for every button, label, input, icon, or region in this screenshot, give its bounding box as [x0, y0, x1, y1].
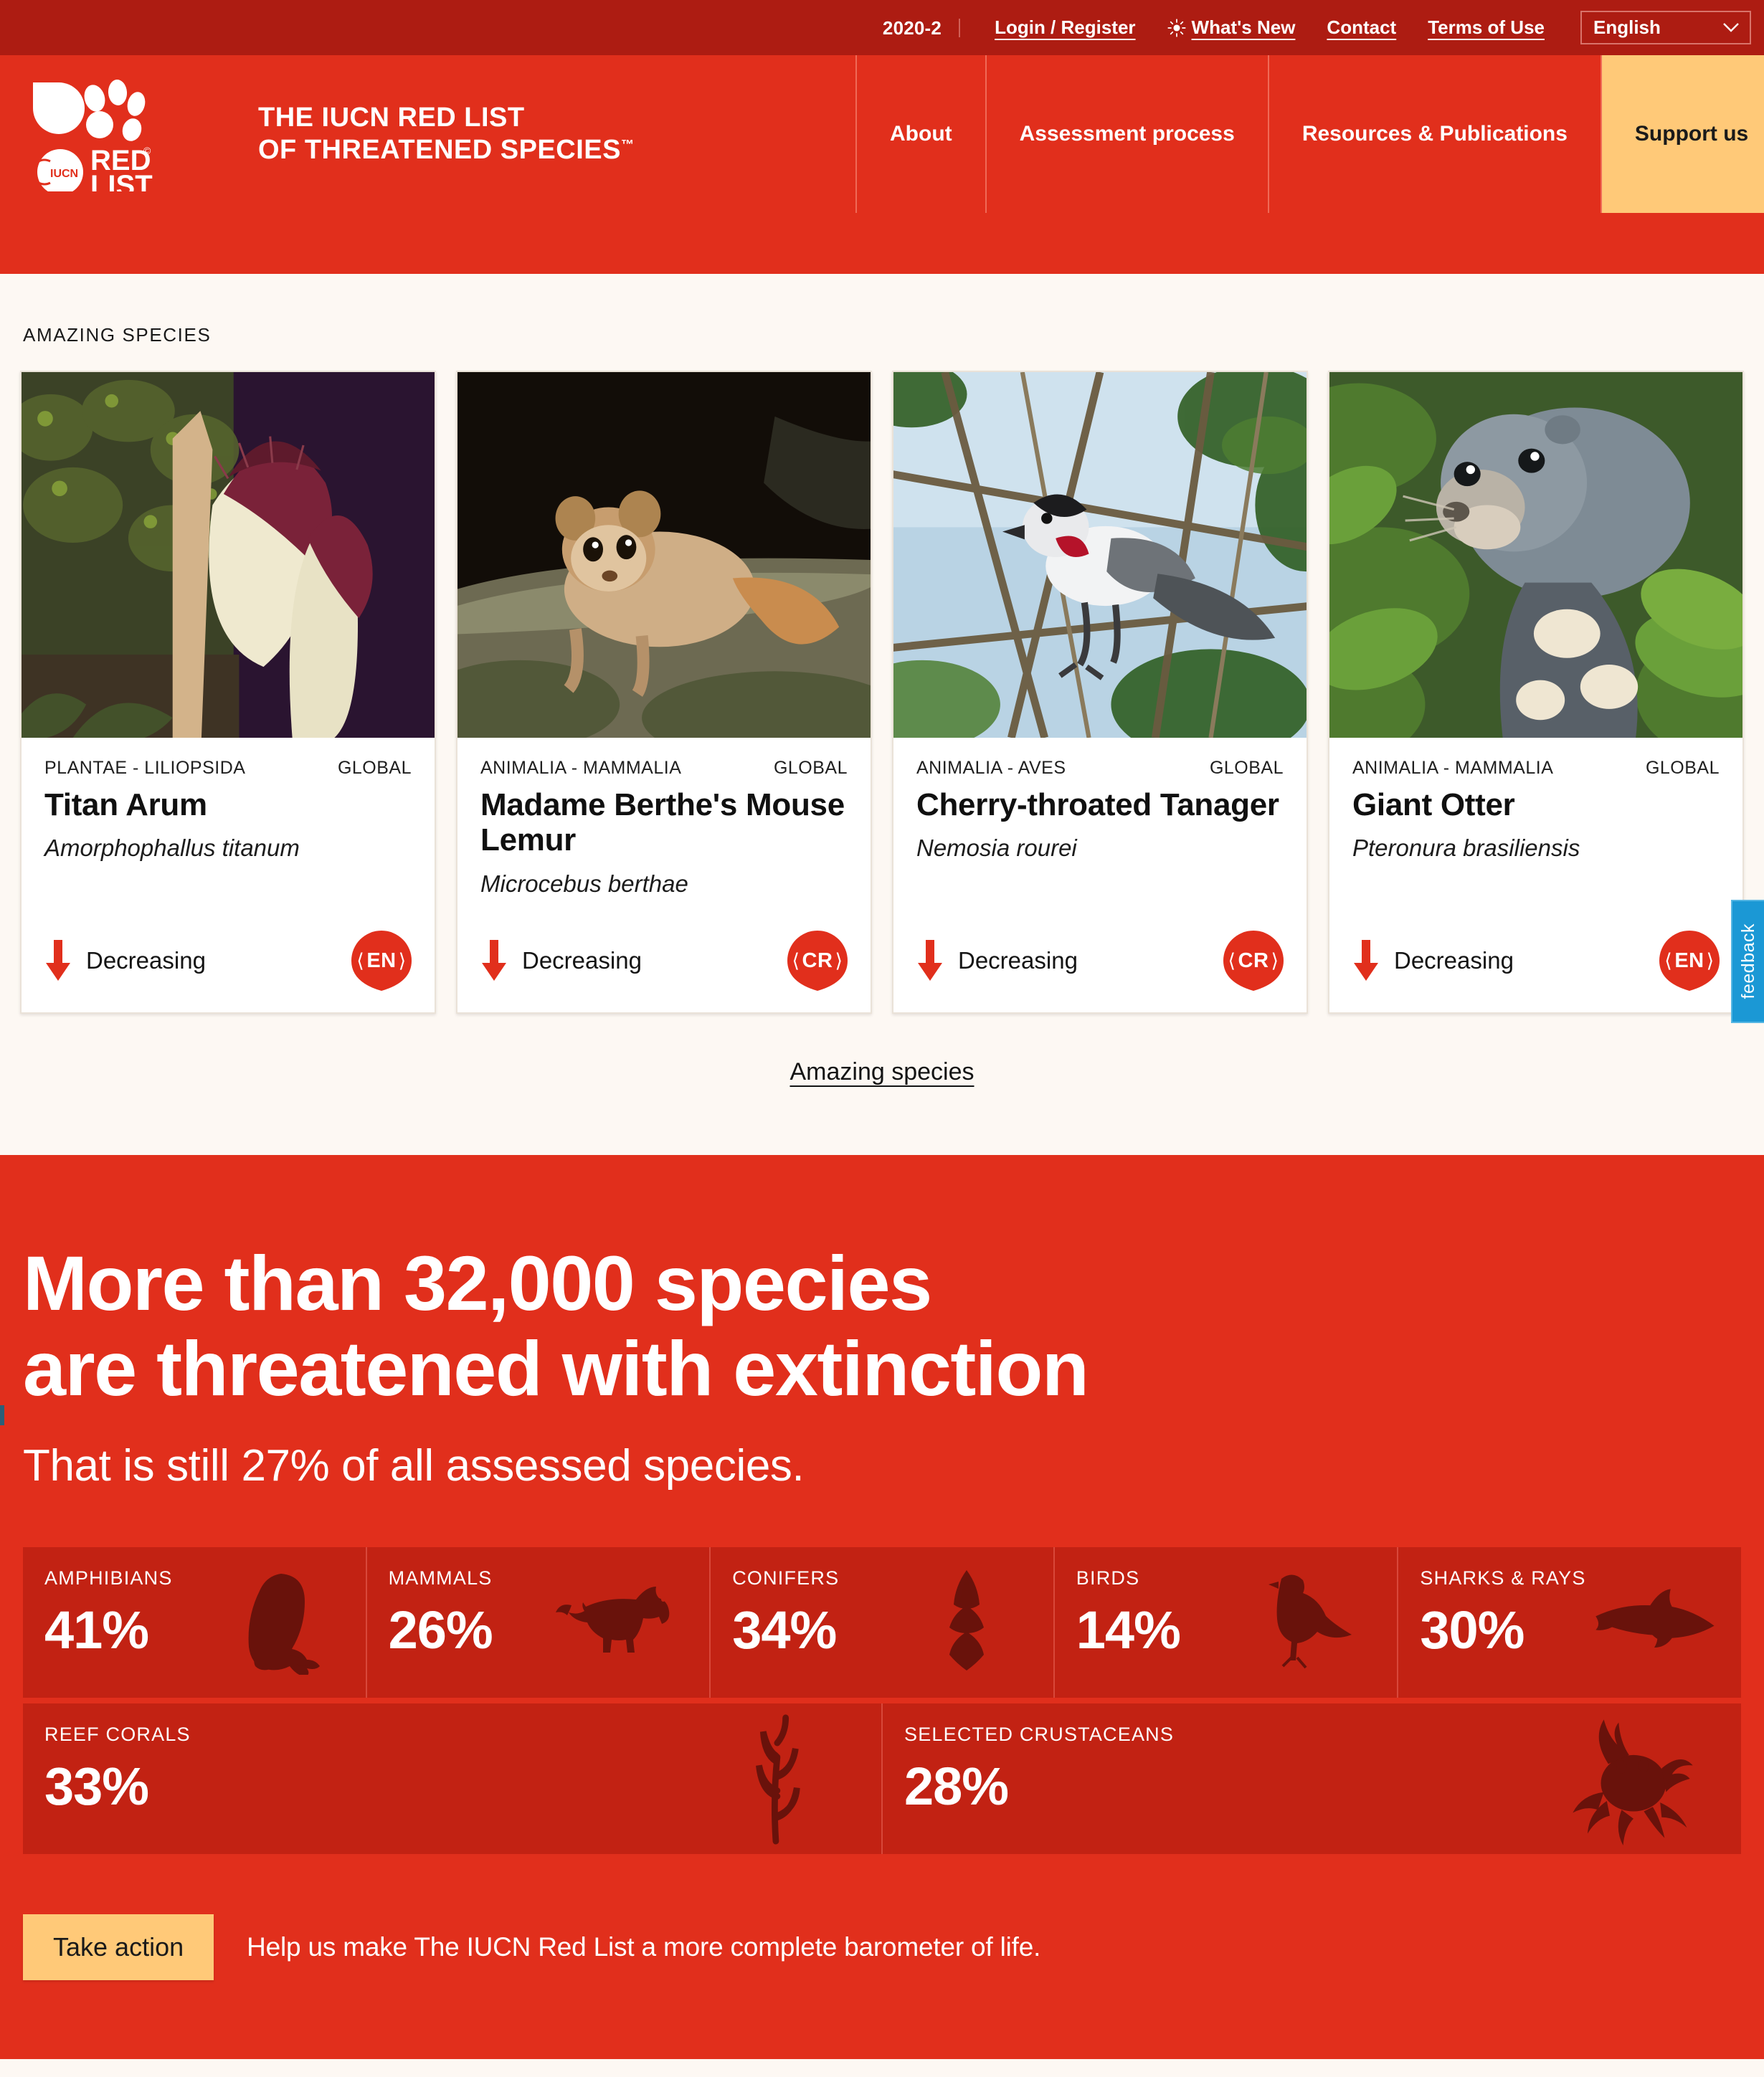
stat-tile-sharks-rays[interactable]: SHARKS & RAYS 30% — [1398, 1547, 1741, 1698]
release-version: 2020-2 — [883, 19, 960, 37]
bird-icon — [1242, 1567, 1378, 1675]
species-scientific-name: Pteronura brasiliensis — [1352, 834, 1720, 862]
trademark-mark: ™ — [621, 137, 635, 151]
species-photo-titan-arum — [22, 372, 435, 738]
status-badge-text: ⟨ EN ⟩ — [356, 949, 406, 973]
svg-text:©: © — [143, 145, 151, 156]
status-badge: ⟨ CR ⟩ — [1223, 931, 1284, 991]
iucn-red-list-logo-icon: IUCN RED © LIST — [29, 77, 165, 191]
chevron-right-icon: ⟩ — [399, 950, 407, 972]
species-population-trend: Decreasing — [44, 940, 206, 982]
chevron-left-icon: ⟨ — [1228, 950, 1236, 972]
species-card[interactable]: ANIMALIA - AVES GLOBAL Cherry-throated T… — [892, 371, 1308, 1014]
conifer-cone-icon — [898, 1567, 1035, 1675]
status-badge-text: ⟨ EN ⟩ — [1664, 949, 1714, 973]
species-card-list: PLANTAE - LILIOPSIDA GLOBAL Titan Arum A… — [0, 371, 1764, 1014]
chevron-right-icon: ⟩ — [1271, 950, 1279, 972]
arrow-down-icon — [916, 940, 944, 982]
brand-home-link[interactable]: IUCN RED © LIST THE IUCN RED LIST OF THR… — [0, 55, 857, 213]
arrow-down-icon — [44, 940, 72, 982]
threat-percentage-tiles: AMPHIBIANS 41% MAMMALS 26% CONIFERS — [23, 1547, 1741, 1854]
svg-text:IUCN: IUCN — [50, 168, 78, 180]
tile-row-secondary: REEF CORALS 33% SELECTED CRUSTACEANS 28% — [23, 1703, 1741, 1854]
nav-item-resources-publications[interactable]: Resources & Publications — [1269, 55, 1602, 213]
nav-item-about[interactable]: About — [857, 55, 987, 213]
stat-tile-mammals[interactable]: MAMMALS 26% — [367, 1547, 711, 1698]
species-taxon: ANIMALIA - MAMMALIA — [480, 758, 681, 779]
chevron-left-icon: ⟨ — [1664, 950, 1672, 972]
chevron-left-icon: ⟨ — [792, 950, 800, 972]
terms-of-use-label: Terms of Use — [1428, 16, 1545, 39]
status-code: EN — [366, 949, 396, 973]
species-common-name: Giant Otter — [1352, 787, 1720, 822]
login-register-link[interactable]: Login / Register — [995, 16, 1135, 39]
species-common-name: Madame Berthe's Mouse Lemur — [480, 787, 848, 858]
chevron-left-icon: ⟨ — [356, 950, 364, 972]
coral-icon — [702, 1712, 845, 1845]
stat-tile-amphibians[interactable]: AMPHIBIANS 41% — [23, 1547, 367, 1698]
species-population-trend: Decreasing — [1352, 940, 1514, 982]
species-card[interactable]: ANIMALIA - MAMMALIA GLOBAL Giant Otter P… — [1328, 371, 1744, 1014]
status-code: CR — [802, 949, 833, 973]
status-code: CR — [1238, 949, 1269, 973]
left-edge-marker — [0, 1405, 4, 1425]
frog-icon — [211, 1567, 347, 1675]
amazing-species-link-row: Amazing species — [0, 1014, 1764, 1155]
take-action-button[interactable]: Take action — [23, 1914, 214, 1980]
site-title-line-1: THE IUCN RED LIST — [258, 102, 634, 134]
login-register-label: Login / Register — [995, 16, 1135, 39]
stat-tile-reef-corals[interactable]: REEF CORALS 33% — [23, 1703, 883, 1854]
whats-new-link[interactable]: What's New — [1167, 16, 1296, 39]
amazing-species-section-label: AMAZING SPECIES — [0, 274, 1764, 371]
status-code: EN — [1674, 949, 1704, 973]
species-card-body: ANIMALIA - AVES GLOBAL Cherry-throated T… — [893, 738, 1307, 1012]
species-trend-label: Decreasing — [86, 947, 206, 974]
feedback-tab-label: feedback — [1738, 923, 1759, 999]
language-selected-value: English — [1593, 18, 1661, 37]
species-population-trend: Decreasing — [916, 940, 1078, 982]
species-card-body: PLANTAE - LILIOPSIDA GLOBAL Titan Arum A… — [22, 738, 435, 1012]
species-scientific-name: Nemosia rourei — [916, 834, 1284, 862]
stats-subline: That is still 27% of all assessed specie… — [23, 1440, 1741, 1491]
tile-row-primary: AMPHIBIANS 41% MAMMALS 26% CONIFERS — [23, 1547, 1741, 1698]
arrow-down-icon — [480, 940, 508, 982]
nav-item-assessment-process[interactable]: Assessment process — [987, 55, 1269, 213]
chevron-down-icon — [1722, 22, 1740, 32]
svg-text:LIST: LIST — [90, 170, 153, 191]
utility-bar: 2020-2 Login / Register What's New Conta… — [0, 0, 1764, 55]
stats-headline-line-1: More than 32,000 species — [23, 1241, 1741, 1326]
chevron-right-icon: ⟩ — [1707, 950, 1715, 972]
language-selector[interactable]: English — [1580, 11, 1751, 44]
status-badge-text: ⟨ CR ⟩ — [792, 949, 843, 973]
feedback-tab[interactable]: feedback — [1731, 900, 1764, 1023]
amazing-species-link[interactable]: Amazing species — [789, 1058, 974, 1085]
call-to-action-row: Take action Help us make The IUCN Red Li… — [23, 1914, 1741, 1980]
amazing-species-section: AMAZING SPECIES — [0, 274, 1764, 1155]
stat-tile-conifers[interactable]: CONIFERS 34% — [711, 1547, 1055, 1698]
species-scope: GLOBAL — [1646, 758, 1720, 779]
stat-tile-birds[interactable]: BIRDS 14% — [1055, 1547, 1399, 1698]
species-scope: GLOBAL — [1210, 758, 1284, 779]
whats-new-label: What's New — [1192, 16, 1296, 39]
stats-headline: More than 32,000 species are threatened … — [23, 1241, 1741, 1412]
species-scientific-name: Amorphophallus titanum — [44, 834, 412, 862]
species-common-name: Cherry-throated Tanager — [916, 787, 1284, 822]
species-taxon: PLANTAE - LILIOPSIDA — [44, 758, 245, 779]
status-badge: ⟨ EN ⟩ — [351, 931, 412, 991]
species-card[interactable]: ANIMALIA - MAMMALIA GLOBAL Madame Berthe… — [456, 371, 872, 1014]
species-photo-mouse-lemur — [457, 372, 871, 738]
species-scope: GLOBAL — [774, 758, 848, 779]
stat-tile-selected-crustaceans[interactable]: SELECTED CRUSTACEANS 28% — [883, 1703, 1741, 1854]
contact-label: Contact — [1327, 16, 1396, 39]
site-header: IUCN RED © LIST THE IUCN RED LIST OF THR… — [0, 55, 1764, 213]
species-common-name: Titan Arum — [44, 787, 412, 822]
status-badge-text: ⟨ CR ⟩ — [1228, 949, 1279, 973]
leopard-icon — [554, 1567, 691, 1675]
status-badge: ⟨ EN ⟩ — [1659, 931, 1720, 991]
species-photo-cherry-throated-tanager — [893, 372, 1307, 738]
species-photo-giant-otter — [1329, 372, 1742, 738]
crab-icon — [1562, 1712, 1705, 1845]
species-taxon: ANIMALIA - AVES — [916, 758, 1066, 779]
stats-headline-line-2: are threatened with extinction — [23, 1326, 1741, 1412]
species-trend-label: Decreasing — [1394, 947, 1514, 974]
arrow-down-icon — [1352, 940, 1380, 982]
chevron-right-icon: ⟩ — [835, 950, 843, 972]
site-title-line-2: OF THREATENED SPECIES™ — [258, 134, 634, 166]
species-population-trend: Decreasing — [480, 940, 642, 982]
terms-of-use-link[interactable]: Terms of Use — [1428, 16, 1545, 39]
shark-icon — [1586, 1567, 1722, 1675]
contact-link[interactable]: Contact — [1327, 16, 1396, 39]
threatened-species-stats-section: More than 32,000 species are threatened … — [0, 1155, 1764, 2059]
site-title: THE IUCN RED LIST OF THREATENED SPECIES™ — [258, 102, 634, 166]
header-bottom-strip — [0, 213, 1764, 274]
call-to-action-text: Help us make The IUCN Red List a more co… — [247, 1932, 1040, 1962]
species-taxon: ANIMALIA - MAMMALIA — [1352, 758, 1553, 779]
sun-icon — [1167, 19, 1186, 37]
species-card[interactable]: PLANTAE - LILIOPSIDA GLOBAL Titan Arum A… — [20, 371, 436, 1014]
species-card-body: ANIMALIA - MAMMALIA GLOBAL Madame Berthe… — [457, 738, 871, 1012]
nav-item-support-us[interactable]: Support us — [1602, 55, 1764, 213]
species-scientific-name: Microcebus berthae — [480, 870, 848, 898]
status-badge: ⟨ CR ⟩ — [787, 931, 848, 991]
species-card-body: ANIMALIA - MAMMALIA GLOBAL Giant Otter P… — [1329, 738, 1742, 1012]
main-navigation: About Assessment process Resources & Pub… — [857, 55, 1764, 213]
species-scope: GLOBAL — [338, 758, 412, 779]
species-trend-label: Decreasing — [958, 947, 1078, 974]
species-trend-label: Decreasing — [522, 947, 642, 974]
